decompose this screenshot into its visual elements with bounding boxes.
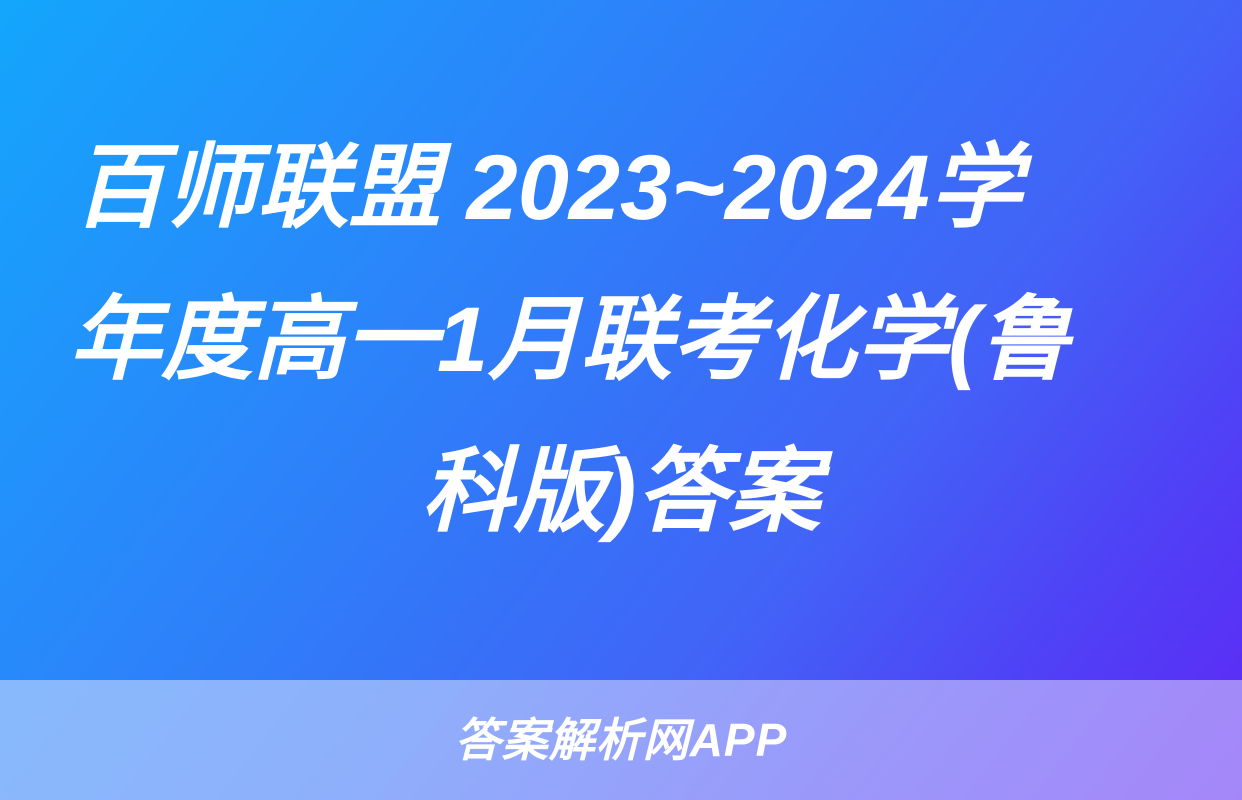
poster-title-line-2: 年度高一1月联考化学(鲁 (55, 264, 1187, 416)
watermark-app-label: 答案解析网APP (455, 717, 788, 763)
poster-title-line-3: 科版)答案 (62, 416, 1180, 568)
watermark-band: 答案解析网APP (0, 680, 1242, 800)
poster-title-block: 百师联盟 2023~2024学 年度高一1月联考化学(鲁 科版)答案 (0, 0, 1242, 680)
answer-poster-card: 百师联盟 2023~2024学 年度高一1月联考化学(鲁 科版)答案 答案解析网… (0, 0, 1242, 800)
poster-title-line-1: 百师联盟 2023~2024学 (51, 112, 1191, 264)
